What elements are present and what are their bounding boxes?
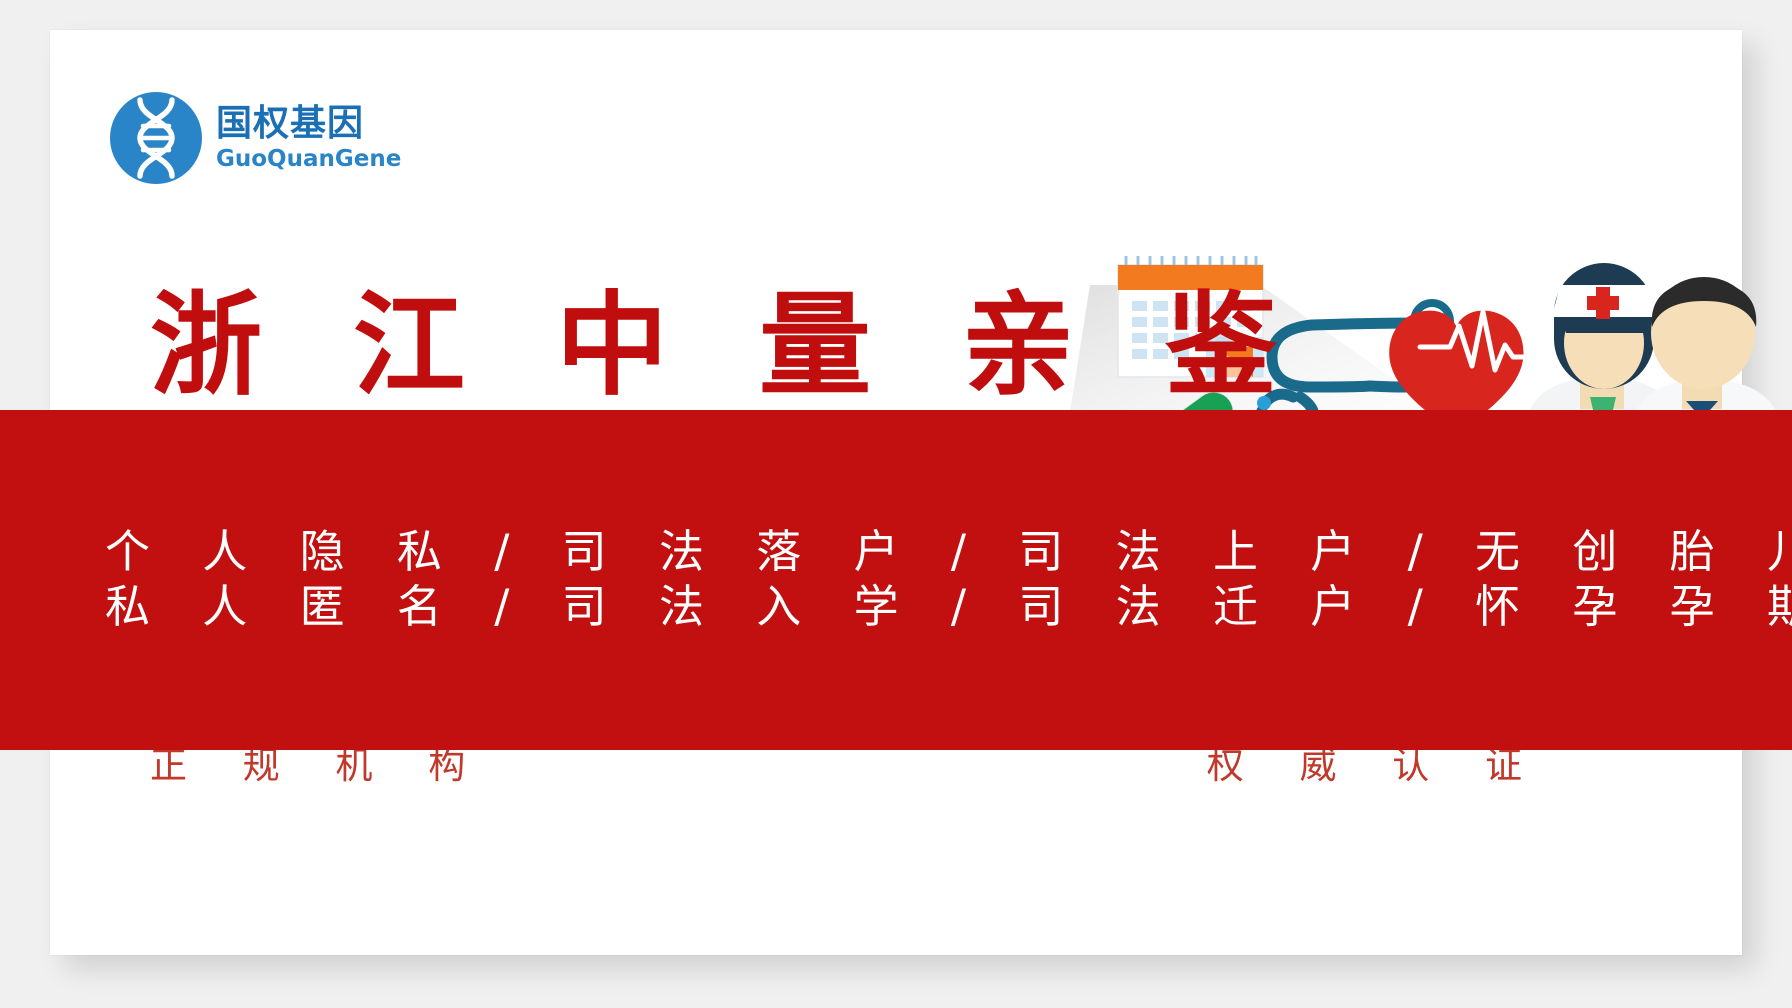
dna-helix-icon [110, 92, 202, 184]
page-title: 浙 江 中 量 亲 鉴 [150, 288, 1070, 406]
service-band: 个 人 隐 私 / 司 法 落 户 / 司 法 上 户 / 无 创 胎 儿 私 … [0, 410, 1792, 750]
brand-name-en: GuoQuanGene [216, 148, 401, 171]
service-line-2: 私 人 匿 名 / 司 法 入 学 / 司 法 迁 户 / 怀 孕 孕 期 [105, 580, 1792, 635]
brand-name-cn: 国权基因 [216, 106, 401, 142]
brand-logo[interactable]: 国权基因 GuoQuanGene [110, 92, 401, 184]
service-line-1: 个 人 隐 私 / 司 法 落 户 / 司 法 上 户 / 无 创 胎 儿 [105, 525, 1792, 580]
promo-banner-root: 国权基因 GuoQuanGene [0, 0, 1792, 1008]
brand-text: 国权基因 GuoQuanGene [216, 106, 401, 171]
